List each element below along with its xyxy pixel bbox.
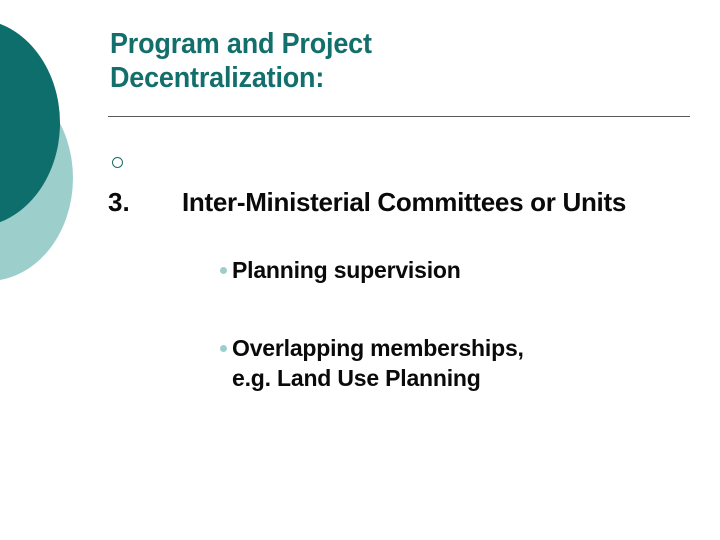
sub-bullet-text: Planning supervision (218, 255, 698, 285)
dot-bullet-icon (220, 267, 227, 274)
light-teal-circle-icon (0, 75, 73, 281)
dot-bullet-icon (220, 345, 227, 352)
presentation-slide: Program and Project Decentralization: 3.… (0, 0, 720, 540)
slide-body: 3. Inter-Ministerial Committees or Units… (108, 148, 698, 393)
sub-bullet-list: Planning supervision Overlapping members… (108, 255, 698, 393)
list-item: Overlapping memberships, e.g. Land Use P… (218, 333, 698, 393)
hollow-circle-bullet-icon (112, 157, 123, 168)
list-number: 3. (108, 186, 182, 219)
sub-bullet-text: Overlapping memberships, e.g. Land Use P… (218, 333, 698, 393)
list-item-text: Inter-Ministerial Committees or Units (182, 186, 698, 219)
list-item: Planning supervision (218, 255, 698, 285)
title-block: Program and Project Decentralization: (110, 27, 695, 95)
empty-bullet-row (108, 148, 698, 184)
slide-title: Program and Project Decentralization: (110, 27, 654, 95)
numbered-list-item-3: 3. Inter-Ministerial Committees or Units (108, 186, 698, 219)
dark-teal-circle-icon (0, 19, 60, 227)
title-divider (108, 116, 690, 117)
